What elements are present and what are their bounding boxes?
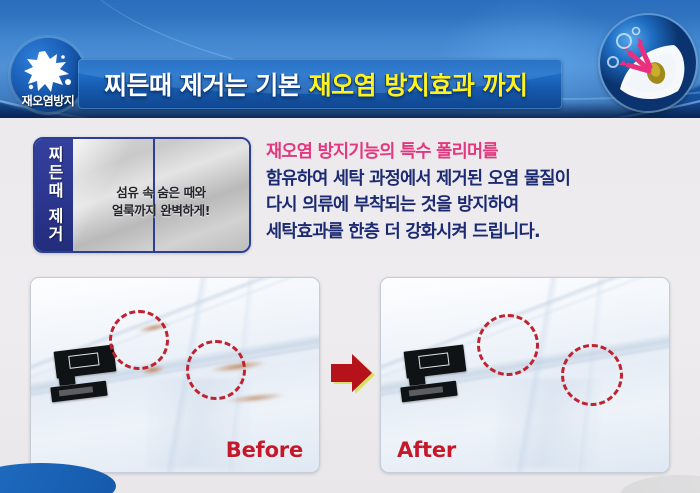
description-line-3: 다시 의류에 부착되는 것을 방지하여 — [266, 192, 690, 219]
description-line-4: 세탁효과를 한층 더 강화시켜 드립니다. — [266, 219, 690, 246]
feature-caption-line-1: 섬유 속 숨은 때와 — [79, 184, 243, 202]
splash-stain-icon — [23, 49, 73, 95]
right-arrow-icon — [330, 352, 378, 398]
feature-card-tab: 찌든때 제거 — [35, 139, 73, 251]
after-highlight-circle-2 — [561, 344, 623, 406]
feature-caption-line-2: 얼룩까지 완벽하게! — [79, 202, 243, 220]
product-illustration — [600, 15, 696, 111]
before-highlight-circle-1 — [109, 310, 169, 370]
before-photo-card: Before — [30, 277, 320, 473]
feature-card-tab-label: 찌든때 제거 — [46, 146, 62, 244]
after-label: After — [397, 438, 456, 462]
feature-card: 찌든때 제거 섬유 속 숨은 때와 얼룩까지 완벽하게! — [33, 137, 251, 253]
feature-card-caption: 섬유 속 숨은 때와 얼룩까지 완벽하게! — [79, 184, 243, 220]
description-text: 재오염 방지기능의 특수 폴리머를 함유하여 세탁 과정에서 제거된 오염 물질… — [266, 139, 690, 245]
after-highlight-circle-1 — [477, 314, 539, 376]
before-label: Before — [226, 438, 303, 462]
title-text-highlight: 재오염 방지효과 까지 — [309, 71, 528, 100]
description-line-1: 재오염 방지기능의 특수 폴리머를 — [266, 139, 690, 166]
after-photo-card: After — [380, 277, 670, 473]
title-text-white: 찌든때 제거는 기본 — [104, 71, 309, 100]
before-highlight-circle-2 — [186, 340, 246, 400]
description-line-2: 함유하여 세탁 과정에서 제거된 오염 물질이 — [266, 166, 690, 193]
advertisement-slide: 재오염방지 찌든때 제거는 기본 재오염 방지효과 까지 — [0, 0, 700, 493]
sanitary-pad-stain-repel-icon — [600, 15, 696, 111]
title-bar: 찌든때 제거는 기본 재오염 방지효과 까지 — [78, 59, 562, 109]
page-title: 찌든때 제거는 기본 재오염 방지효과 까지 — [104, 66, 528, 102]
